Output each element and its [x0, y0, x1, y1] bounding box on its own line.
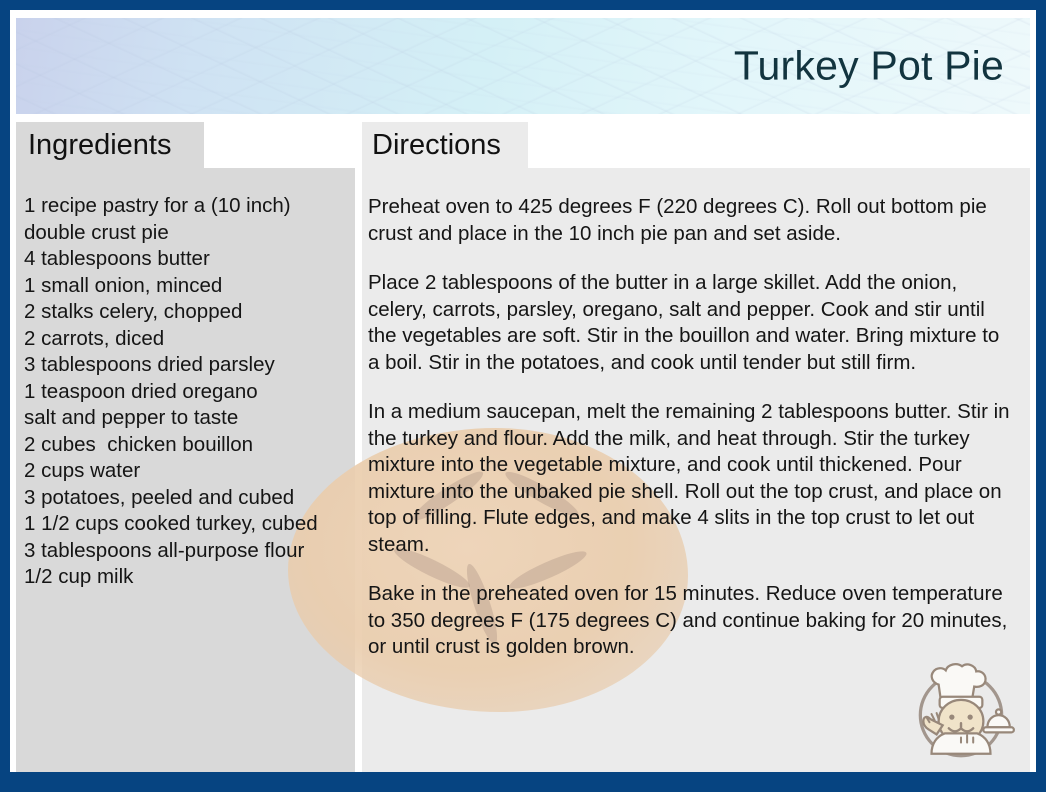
ingredient-item: 2 stalks celery, chopped [24, 299, 354, 326]
header-banner: Turkey Pot Pie [16, 18, 1030, 114]
ingredient-item: 2 cubes chicken bouillon [24, 432, 354, 459]
ingredient-item: 3 tablespoons dried parsley [24, 352, 354, 379]
ingredients-list: 1 recipe pastry for a (10 inch)double cr… [24, 193, 354, 591]
ingredient-item: double crust pie [24, 220, 354, 247]
direction-step: Preheat oven to 425 degrees F (220 degre… [368, 194, 1016, 247]
direction-step: In a medium saucepan, melt the remaining… [368, 399, 1016, 558]
ingredient-item: salt and pepper to taste [24, 405, 354, 432]
tab-directions[interactable]: Directions [362, 122, 528, 168]
ingredient-item: 4 tablespoons butter [24, 246, 354, 273]
chef-mascot-logo [900, 648, 1022, 770]
tab-ingredients[interactable]: Ingredients [16, 122, 204, 168]
directions-steps: Preheat oven to 425 degrees F (220 degre… [368, 194, 1016, 661]
ingredient-item: 1 teaspoon dried oregano [24, 379, 354, 406]
ingredient-item: 2 cups water [24, 458, 354, 485]
direction-step: Place 2 tablespoons of the butter in a l… [368, 270, 1016, 376]
ingredient-item: 3 tablespoons all-purpose flour [24, 538, 354, 565]
ingredient-item: 1 small onion, minced [24, 273, 354, 300]
tab-directions-label: Directions [372, 129, 501, 162]
ingredient-item: 1/2 cup milk [24, 564, 354, 591]
ingredient-item: 3 potatoes, peeled and cubed [24, 485, 354, 512]
ingredient-item: 2 carrots, diced [24, 326, 354, 353]
tab-ingredients-label: Ingredients [28, 129, 172, 162]
recipe-card: Turkey Pot Pie Ingredients Directions 1 … [0, 0, 1046, 792]
ingredient-item: 1 1/2 cups cooked turkey, cubed [24, 511, 354, 538]
ingredient-item: 1 recipe pastry for a (10 inch) [24, 193, 354, 220]
recipe-title: Turkey Pot Pie [734, 43, 1004, 90]
